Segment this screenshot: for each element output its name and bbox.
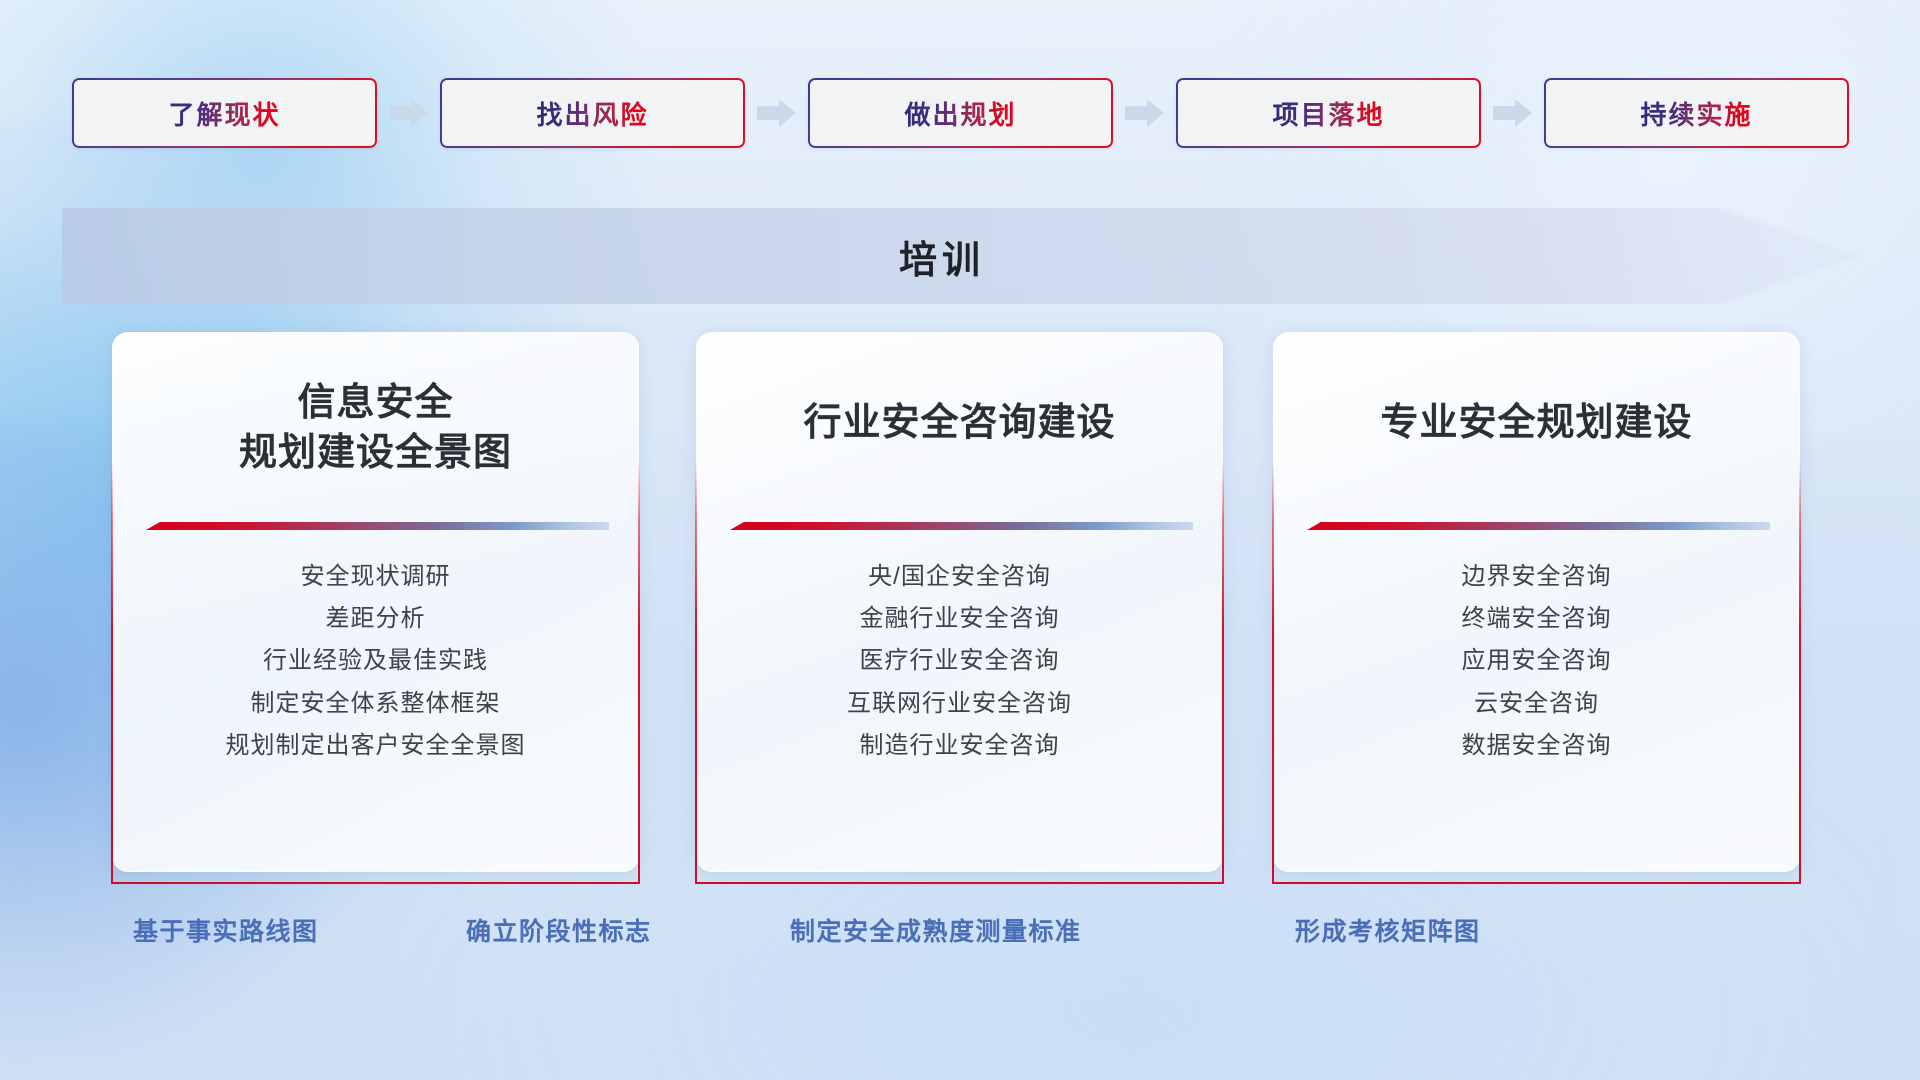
process-step-4-label: 项目落地 [1272,95,1384,132]
card-professional-security-planning[interactable]: 专业安全规划建设 [1273,332,1800,872]
process-step-3[interactable]: 做出规划 [808,78,1113,148]
list-item: 应用安全咨询 [1273,640,1800,682]
list-item: 互联网行业安全咨询 [696,683,1223,725]
card-title: 信息安全 规划建设全景图 [112,378,639,478]
process-arrow-2-icon [745,78,808,148]
process-step-3-label: 做出规划 [904,95,1016,132]
card-divider [726,522,1193,533]
list-item: 制造行业安全咨询 [696,725,1223,767]
gradient-divider-icon [1303,522,1770,533]
card-industry-security-consulting[interactable]: 行业安全咨询建设 [696,332,1223,872]
infographic-root: 了解现状 找出风险 做出规划 项目落地 [0,0,1920,1080]
card-edge-bottom [111,882,640,884]
caption-roadmap: 基于事实路线图 [133,912,319,948]
list-item: 云安全咨询 [1273,683,1800,725]
process-step-5[interactable]: 持续实施 [1544,78,1849,148]
list-item: 金融行业安全咨询 [696,598,1223,640]
process-step-1-label: 了解现状 [168,95,280,132]
list-item: 医疗行业安全咨询 [696,640,1223,682]
caption-kpi-matrix: 形成考核矩阵图 [1295,912,1481,948]
process-step-2-label: 找出风险 [536,95,648,132]
card-item-list: 央/国企安全咨询 金融行业安全咨询 医疗行业安全咨询 互联网行业安全咨询 制造行… [696,556,1223,767]
gradient-divider-icon [142,522,609,533]
card-item-list: 边界安全咨询 终端安全咨询 应用安全咨询 云安全咨询 数据安全咨询 [1273,556,1800,767]
card-information-security-panorama[interactable]: 信息安全 规划建设全景图 [112,332,639,872]
card-divider [142,522,609,533]
list-item: 边界安全咨询 [1273,556,1800,598]
process-step-4[interactable]: 项目落地 [1176,78,1481,148]
list-item: 数据安全咨询 [1273,725,1800,767]
caption-milestones: 确立阶段性标志 [466,912,652,948]
card-edge-bottom [695,882,1224,884]
list-item: 央/国企安全咨询 [696,556,1223,598]
list-item: 行业经验及最佳实践 [112,640,639,682]
card-title: 专业安全规划建设 [1273,398,1800,448]
caption-maturity-scale: 制定安全成熟度测量标准 [790,912,1082,948]
list-item: 安全现状调研 [112,556,639,598]
card-row: 信息安全 规划建设全景图 [0,332,1920,872]
process-arrow-1-icon [377,78,440,148]
card-edge-bottom [1272,882,1801,884]
process-arrow-4-icon [1481,78,1544,148]
gradient-divider-icon [726,522,1193,533]
list-item: 差距分析 [112,598,639,640]
process-arrow-3-icon [1113,78,1176,148]
process-step-2[interactable]: 找出风险 [440,78,745,148]
process-step-row: 了解现状 找出风险 做出规划 项目落地 [72,78,1848,148]
process-step-5-label: 持续实施 [1640,95,1752,132]
training-banner: 培训 [62,208,1862,304]
list-item: 制定安全体系整体框架 [112,683,639,725]
card-item-list: 安全现状调研 差距分析 行业经验及最佳实践 制定安全体系整体框架 规划制定出客户… [112,556,639,767]
list-item: 规划制定出客户安全全景图 [112,725,639,767]
card-divider [1303,522,1770,533]
training-banner-label: 培训 [62,208,1822,304]
card-title: 行业安全咨询建设 [696,398,1223,448]
process-step-1[interactable]: 了解现状 [72,78,377,148]
caption-row: 基于事实路线图 确立阶段性标志 制定安全成熟度测量标准 形成考核矩阵图 [0,912,1920,972]
list-item: 终端安全咨询 [1273,598,1800,640]
